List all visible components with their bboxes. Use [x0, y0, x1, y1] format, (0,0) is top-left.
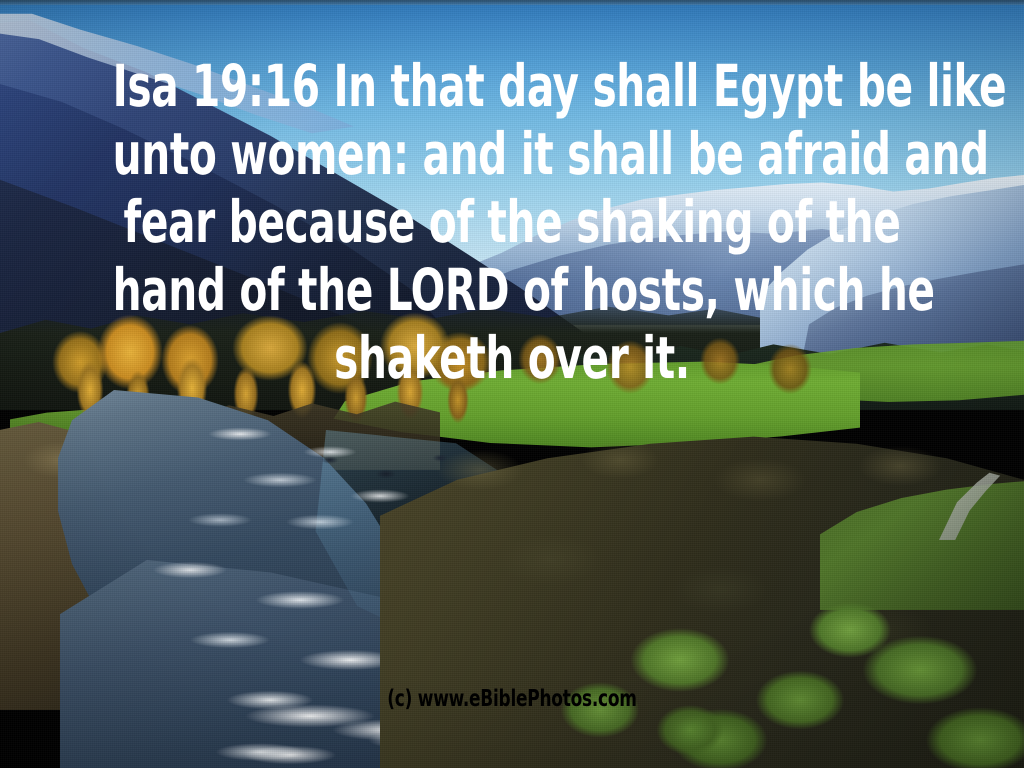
autumn-larch-canopy-right	[420, 315, 840, 410]
foreground-green-bushes-secondary	[540, 660, 760, 768]
copyright-watermark: (c) www.eBiblePhotos.com	[92, 686, 932, 712]
scripture-image: Isa 19:16 In that day shall Egypt be lik…	[0, 0, 1024, 768]
sky-top-edge-band	[0, 0, 1024, 5]
